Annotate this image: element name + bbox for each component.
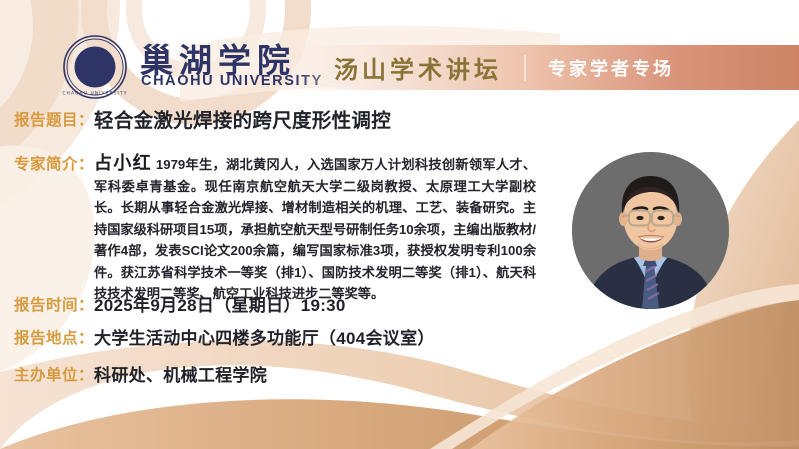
poster-header: 1977 CHAOHU UNIVERSITY 巢湖学院 CHAOHU UNIVE… <box>0 0 799 104</box>
report-time-row: 报告时间： 2025年9月28日（星期日）19:30 <box>14 294 346 318</box>
speaker-bio-row: 专家简介： 占小红 1979年生，湖北黄冈人，入选国家万人计划科技创新领军人才、… <box>14 153 544 305</box>
report-time-value: 2025年9月28日（星期日）19:30 <box>94 294 346 318</box>
chaohu-university-emblem-icon: 1977 CHAOHU UNIVERSITY <box>62 34 128 100</box>
report-title-value: 轻合金激光焊接的跨尺度形性调控 <box>94 108 391 134</box>
bottom-right-light-arc <box>430 284 799 449</box>
speaker-bio-body: 占小红 1979年生，湖北黄冈人，入选国家万人计划科技创新领军人才、军科委卓青基… <box>94 153 536 305</box>
forum-banner: 汤山学术讲坛 专家学者专场 <box>293 45 799 90</box>
banner-divider <box>524 55 526 81</box>
report-title-row: 报告题目： 轻合金激光焊接的跨尺度形性调控 <box>14 108 391 134</box>
speaker-portrait <box>572 152 729 309</box>
report-title-label: 报告题目： <box>14 108 94 134</box>
report-time-label: 报告时间： <box>14 294 94 318</box>
report-host-label: 主办单位： <box>14 364 94 388</box>
speaker-bio-label: 专家简介： <box>14 153 94 176</box>
report-place-value: 大学生活动中心四楼多功能厅（404会议室） <box>94 327 435 351</box>
svg-text:1977: 1977 <box>90 70 101 75</box>
report-host-value: 科研处、机械工程学院 <box>94 364 267 388</box>
svg-text:CHAOHU UNIVERSITY: CHAOHU UNIVERSITY <box>63 91 128 96</box>
speaker-name: 占小红 <box>94 153 152 173</box>
forum-banner-subtitle: 专家学者专场 <box>548 55 674 81</box>
report-host-row: 主办单位： 科研处、机械工程学院 <box>14 364 267 388</box>
speaker-bio-text: 1979年生，湖北黄冈人，入选国家万人计划科技创新领军人才、军科委卓青基金。现任… <box>94 157 536 301</box>
seminar-poster: 1977 CHAOHU UNIVERSITY 巢湖学院 CHAOHU UNIVE… <box>0 0 799 449</box>
speaker-portrait-image <box>572 152 729 309</box>
report-place-row: 报告地点： 大学生活动中心四楼多功能厅（404会议室） <box>14 327 435 351</box>
report-place-label: 报告地点： <box>14 327 94 351</box>
forum-banner-title: 汤山学术讲坛 <box>334 50 502 85</box>
bottom-wave-light <box>0 341 799 449</box>
bottom-right-tan-mass <box>470 300 799 449</box>
bottom-wave-main <box>0 399 799 449</box>
